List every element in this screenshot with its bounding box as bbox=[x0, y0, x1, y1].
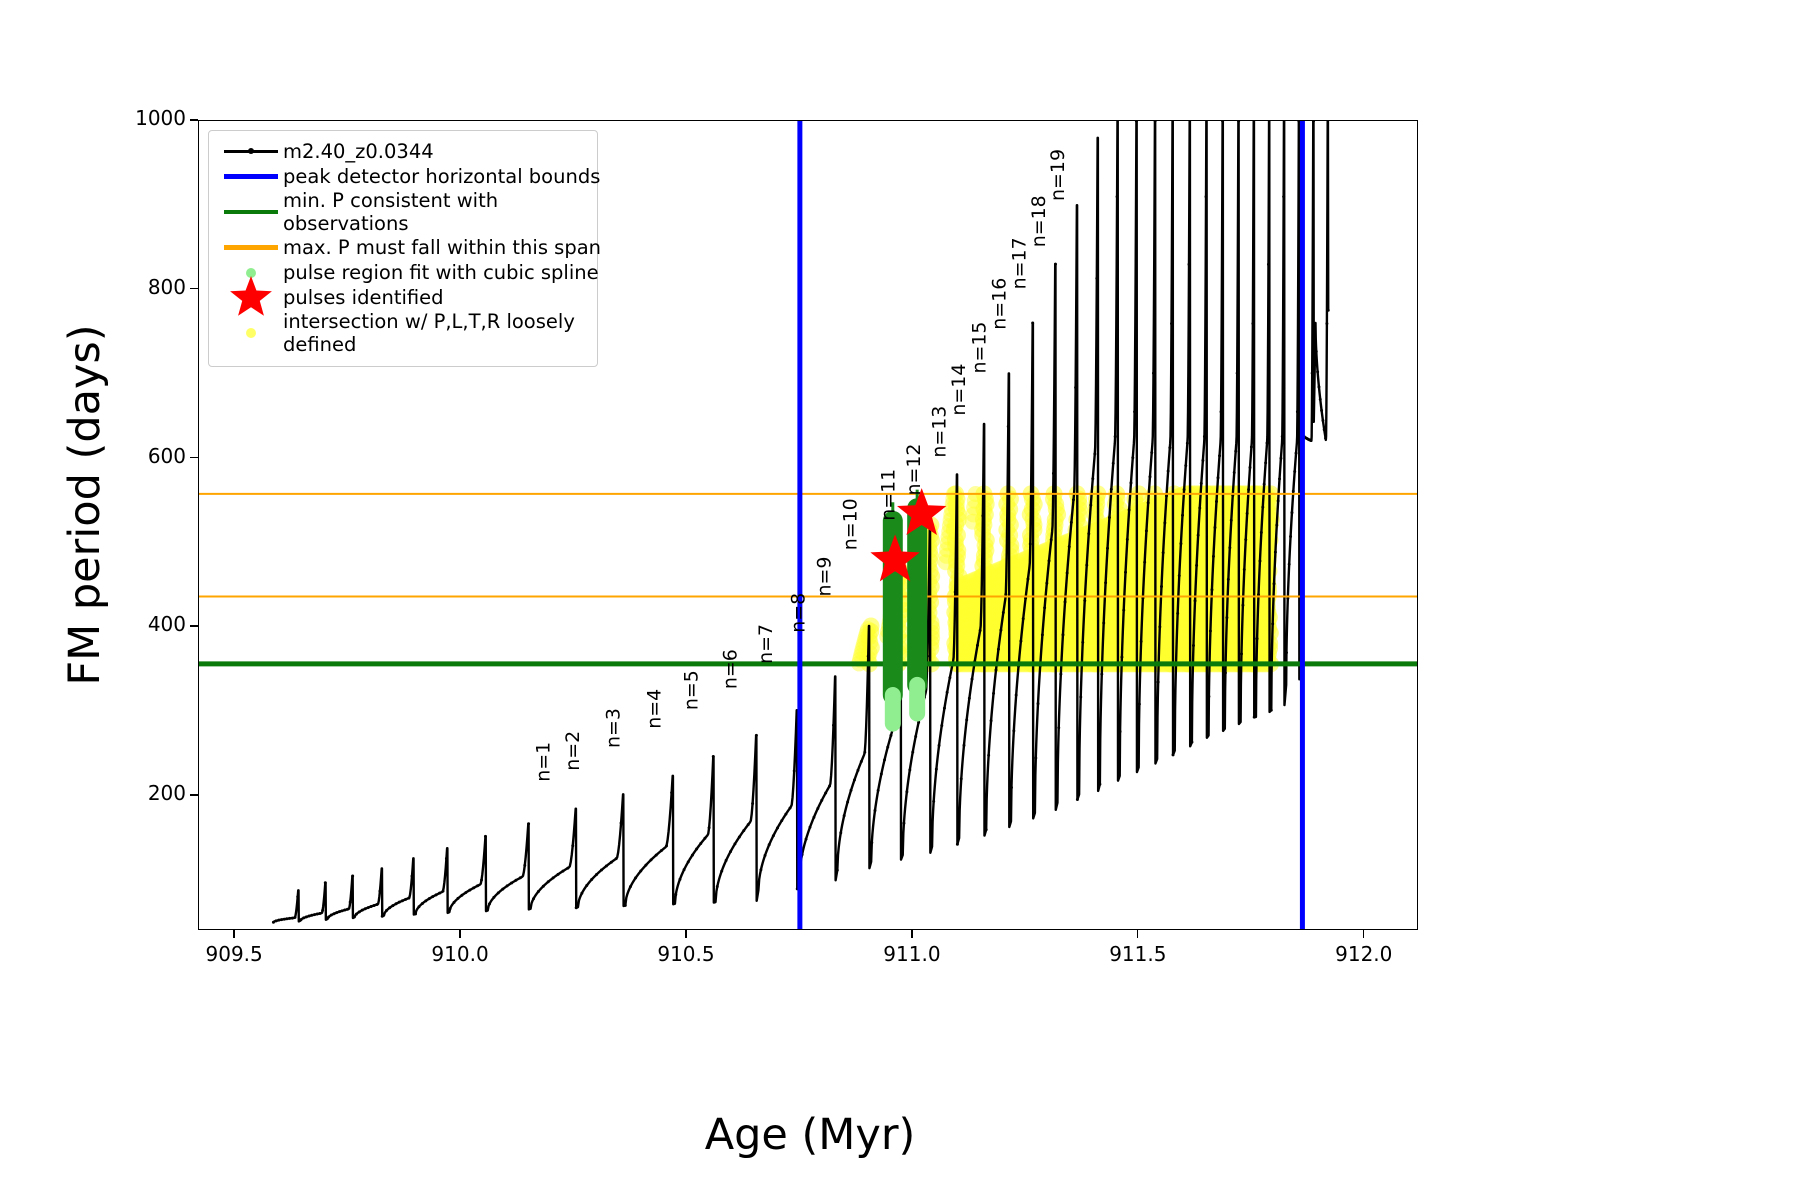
x-tick-mark bbox=[1363, 930, 1365, 938]
pulse-label: n=16 bbox=[989, 278, 1011, 330]
x-tick-mark bbox=[233, 930, 235, 938]
y-tick-mark bbox=[190, 794, 198, 796]
pulse-label: n=4 bbox=[643, 689, 665, 729]
x-axis-label: Age (Myr) bbox=[200, 1110, 1420, 1160]
pulse-label: n=3 bbox=[602, 708, 624, 748]
x-tick-mark bbox=[459, 930, 461, 938]
legend-dot-swatch bbox=[246, 328, 256, 338]
legend-entry-label: min. P consistent with observations bbox=[283, 189, 587, 235]
pulse-label: n=9 bbox=[814, 557, 836, 597]
x-tick-mark bbox=[911, 930, 913, 938]
x-tick-mark bbox=[1137, 930, 1139, 938]
pulse-label: n=10 bbox=[840, 498, 862, 550]
pulse-label: n=19 bbox=[1047, 149, 1069, 201]
legend-line-key bbox=[219, 164, 283, 189]
y-tick-mark bbox=[190, 119, 198, 121]
legend-star-swatch bbox=[222, 275, 280, 321]
legend-entry-label: peak detector horizontal bounds bbox=[283, 165, 600, 188]
pulse-label: n=5 bbox=[680, 670, 702, 710]
pulse-label: n=12 bbox=[903, 444, 925, 496]
legend-line-swatch bbox=[224, 245, 278, 250]
legend-line-key bbox=[219, 200, 283, 225]
y-axis-label: FM period (days) bbox=[60, 155, 110, 855]
legend-dot-key bbox=[219, 321, 283, 346]
pulse-label: n=15 bbox=[968, 322, 990, 374]
x-tick-label: 911.0 bbox=[852, 944, 972, 964]
pulse-label: n=8 bbox=[787, 593, 809, 633]
legend-entry: peak detector horizontal bounds bbox=[219, 164, 587, 189]
pulse-label: n=18 bbox=[1028, 195, 1050, 247]
legend-entry-label: m2.40_z0.0344 bbox=[283, 140, 587, 163]
pulse-label: n=2 bbox=[562, 731, 584, 771]
legend: m2.40_z0.0344peak detector horizontal bo… bbox=[208, 130, 598, 367]
legend-entry-label: max. P must fall within this span bbox=[283, 236, 601, 259]
legend-entry: pulses identified bbox=[219, 285, 587, 310]
pulse-label: n=7 bbox=[755, 624, 777, 664]
legend-entry-label: intersection w/ P,L,T,R loosely defined bbox=[283, 310, 587, 356]
legend-entry-label: pulse region fit with cubic spline bbox=[283, 261, 599, 284]
x-tick-label: 912.0 bbox=[1304, 944, 1424, 964]
y-tick-mark bbox=[190, 288, 198, 290]
pulse-label: n=1 bbox=[533, 742, 555, 782]
pulse-label: n=11 bbox=[878, 469, 900, 521]
legend-line-swatch bbox=[224, 150, 278, 153]
y-tick-mark bbox=[190, 457, 198, 459]
legend-line-key bbox=[219, 235, 283, 260]
legend-line-swatch bbox=[224, 174, 278, 179]
legend-entry: min. P consistent with observations bbox=[219, 189, 587, 235]
x-tick-label: 910.5 bbox=[626, 944, 746, 964]
legend-line-swatch bbox=[224, 210, 278, 215]
x-tick-label: 909.5 bbox=[174, 944, 294, 964]
x-tick-label: 910.0 bbox=[400, 944, 520, 964]
legend-marker-dot bbox=[248, 148, 254, 154]
legend-star-key bbox=[219, 285, 283, 310]
y-tick-mark bbox=[190, 625, 198, 627]
pulse-label: n=6 bbox=[720, 649, 742, 689]
legend-entry-label: pulses identified bbox=[283, 286, 587, 309]
x-tick-label: 911.5 bbox=[1078, 944, 1198, 964]
legend-line-key bbox=[219, 139, 283, 164]
y-tick-label: 1000 bbox=[86, 108, 186, 128]
figure-canvas: 2004006008001000 909.5910.0910.5911.0911… bbox=[0, 0, 1800, 1200]
legend-entry: m2.40_z0.0344 bbox=[219, 139, 587, 164]
pulse-label: n=14 bbox=[948, 364, 970, 416]
x-tick-mark bbox=[685, 930, 687, 938]
legend-entry: max. P must fall within this span bbox=[219, 235, 587, 260]
